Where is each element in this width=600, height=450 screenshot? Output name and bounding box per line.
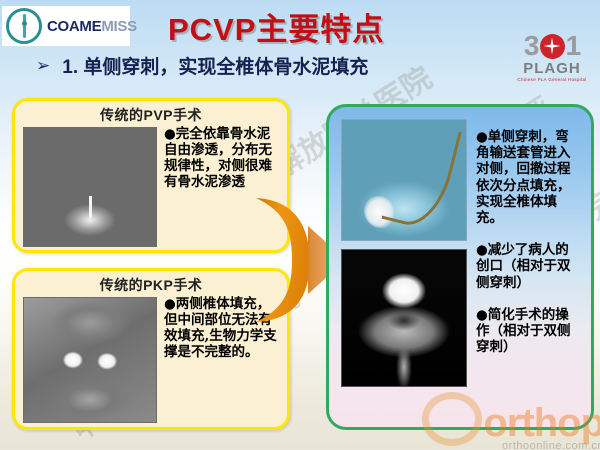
plagh-subtitle-text: Chinese PLA General Hospital xyxy=(517,77,586,82)
plagh-301-logo: 3 1 PLAGH Chinese PLA General Hospital xyxy=(510,26,594,88)
pcvp-bullet-3: ●简化手术的操作（相对于双侧穿刺） xyxy=(476,307,581,356)
site-watermark-url: orthoonline.com.cn xyxy=(483,441,600,450)
pcvp-bullet-list: ●单侧穿刺，弯角输送套管进入对侧，回撤过程依次分点填充，实现全椎体填充。 ●减少… xyxy=(476,119,581,417)
arrow-bullet-icon: ➢ xyxy=(36,56,50,76)
plagh-digit-one: 1 xyxy=(566,32,581,60)
coame-secondary-text: MISS xyxy=(101,18,136,35)
ct-axial-pcvp-image xyxy=(341,249,467,387)
pcvp-bullet-1: ●单侧穿刺，弯角输送套管进入对侧，回撤过程依次分点填充，实现全椎体填充。 xyxy=(476,129,581,226)
coame-miss-logo-text: COAMEMISS xyxy=(47,19,137,34)
panel-pkp-body: ●两侧椎体填充，但中间部位无法有效填充,生物力学支撑是不完整的。 xyxy=(15,297,287,427)
curved-cannula-shape xyxy=(381,119,461,232)
ct-axial-pvp-image xyxy=(23,127,157,247)
panel-traditional-pkp: 传统的PKP手术 ●两侧椎体填充，但中间部位无法有效填充,生物力学支撑是不完整的… xyxy=(12,268,290,430)
watermark-ring-icon xyxy=(422,392,482,446)
presentation-slide: 中国人民解放军总医院 中国人民解放军总医院 中国人民解放军总医院 骨科 毛克亚 … xyxy=(0,0,600,450)
panel-pvp-body: ●完全依靠骨水泥自由渗透，分布无规律性，对侧很难有骨水泥渗透 xyxy=(15,127,287,251)
plagh-digit-three: 3 xyxy=(524,32,539,60)
pcvp-bullet-2: ●减少了病人的创口（相对于双侧穿刺） xyxy=(476,242,581,291)
pcvp-image-column xyxy=(341,119,467,417)
spine-circle-icon xyxy=(6,8,42,44)
subtitle-row: ➢ 1. 单侧穿刺，实现全椎体骨水泥填充 xyxy=(36,52,368,79)
coame-miss-logo: COAMEMISS xyxy=(2,6,130,46)
page-title: PCVP主要特点 xyxy=(168,4,384,49)
plagh-301-mark: 3 1 xyxy=(524,32,580,60)
coame-primary-text: COAME xyxy=(47,18,101,35)
panel-traditional-pvp: 传统的PVP手术 ●完全依靠骨水泥自由渗透，分布无规律性，对侧很难有骨水泥渗透 xyxy=(12,98,290,253)
vertebra-3d-cannula-image xyxy=(341,119,467,241)
xray-ap-pkp-image xyxy=(23,297,157,423)
subtitle-text: 1. 单侧穿刺，实现全椎体骨水泥填充 xyxy=(62,52,368,79)
panel-pvp-heading: 传统的PVP手术 xyxy=(15,101,287,127)
plagh-star-emblem-icon xyxy=(540,34,565,59)
panel-pcvp-advantages: ●单侧穿刺，弯角输送套管进入对侧，回撤过程依次分点填充，实现全椎体填充。 ●减少… xyxy=(326,104,594,430)
panel-pkp-heading: 传统的PKP手术 xyxy=(15,271,287,297)
plagh-name-text: PLAGH xyxy=(523,61,581,76)
